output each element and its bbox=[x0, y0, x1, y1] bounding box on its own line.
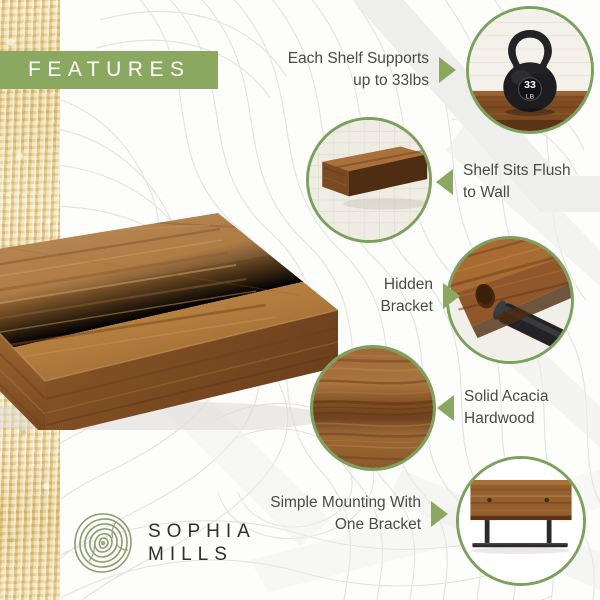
tree-rings-icon bbox=[72, 512, 134, 574]
hero-shelf-slab bbox=[0, 185, 340, 430]
callout-flush-to-wall: Shelf Sits Flush to Wall bbox=[436, 160, 600, 204]
feature-image-hidden-bracket bbox=[446, 236, 574, 364]
callout-simple-mounting: Simple Mounting With One Bracket bbox=[258, 492, 448, 536]
feature-image-flush-to-wall bbox=[306, 117, 432, 243]
logo-line-2: MILLS bbox=[148, 545, 256, 564]
brand-logo: SOPHIA MILLS bbox=[72, 512, 256, 574]
page-title: FEATURES bbox=[0, 58, 190, 82]
feature-image-solid-acacia bbox=[310, 345, 436, 471]
hidden-bracket-illustration bbox=[449, 239, 571, 361]
callout-hidden-bracket-label: Hidden Bracket bbox=[380, 274, 433, 318]
callout-weight-capacity: Each Shelf Supports up to 33lbs bbox=[276, 48, 456, 92]
callout-flush-to-wall-label: Shelf Sits Flush to Wall bbox=[463, 160, 571, 204]
features-banner: FEATURES bbox=[0, 51, 218, 89]
kettlebell-weight-unit: LB bbox=[526, 94, 535, 101]
logo-line-1: SOPHIA bbox=[148, 522, 256, 541]
infographic-canvas: FEATURES bbox=[0, 0, 600, 600]
callout-hidden-bracket: Hidden Bracket bbox=[356, 274, 460, 318]
arrow-left-icon bbox=[436, 169, 453, 195]
callout-weight-capacity-label: Each Shelf Supports up to 33lbs bbox=[288, 48, 429, 92]
logo-wordmark: SOPHIA MILLS bbox=[148, 522, 256, 564]
callout-solid-acacia: Solid Acacia Hardwood bbox=[437, 386, 600, 430]
shelf-with-bracket-illustration bbox=[459, 459, 583, 583]
feature-image-simple-mounting bbox=[456, 456, 586, 586]
arrow-left-icon bbox=[437, 395, 454, 421]
arrow-right-icon bbox=[443, 283, 460, 309]
acacia-grain-closeup bbox=[313, 348, 433, 468]
shelf-side-view-illustration bbox=[309, 120, 429, 240]
callout-simple-mounting-label: Simple Mounting With One Bracket bbox=[270, 492, 421, 536]
feature-image-weight-capacity: 33 LB bbox=[466, 6, 594, 134]
arrow-right-icon bbox=[431, 501, 448, 527]
kettlebell-illustration: 33 LB bbox=[469, 9, 591, 131]
arrow-right-icon bbox=[439, 57, 456, 83]
callout-solid-acacia-label: Solid Acacia Hardwood bbox=[464, 386, 548, 430]
kettlebell-weight-value: 33 bbox=[524, 80, 536, 91]
